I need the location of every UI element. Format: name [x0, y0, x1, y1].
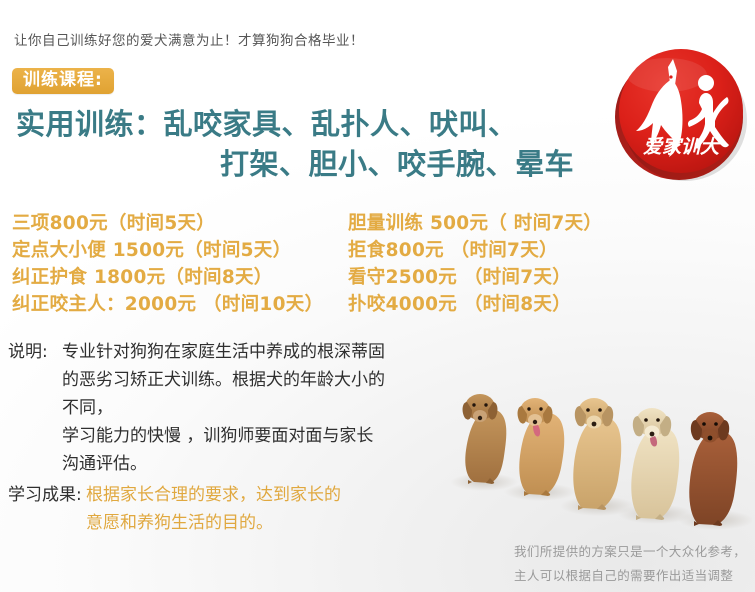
page-title-line-2: 打架、胆小、咬手腕、晕车 [16, 144, 576, 184]
description-line: 沟通评估。 [62, 450, 448, 478]
aijia-dog-training-logo: 爱家训犬 [611, 41, 751, 181]
price-list: 三项800元（时间5天） 胆量训练 500元（ 时间7天） 定点大小便 1500… [12, 210, 652, 318]
price-row: 定点大小便 1500元（时间5天） 拒食800元 （时间7天） [12, 237, 652, 264]
dog-2 [518, 398, 565, 496]
description-line: 学习能力的快慢 ，训狗师要面对面与家长 [62, 422, 448, 450]
outcome-line: 意愿和养狗生活的目的。 [86, 509, 448, 537]
description-line: 专业针对狗狗在家庭生活中养成的根深蒂固 [62, 338, 448, 366]
five-golden-retrievers-photo [440, 378, 752, 530]
description-block: 说明: 专业针对狗狗在家庭生活中养成的根深蒂固 的恶劣习矫正犬训练。根据犬的年龄… [8, 338, 448, 478]
price-item-right: 拒食800元 （时间7天） [348, 237, 558, 264]
price-item-right: 胆量训练 500元（ 时间7天） [348, 210, 602, 237]
tagline: 让你自己训练好您的爱犬满意为止！才算狗狗合格毕业！ [14, 29, 364, 49]
price-item-right: 扑咬4000元 （时间8天） [348, 291, 571, 318]
logo-text: 爱家训犬 [643, 136, 722, 158]
price-row: 纠正咬主人：2000元 （时间10天） 扑咬4000元 （时间8天） [12, 291, 652, 318]
disclaimer-line-1: 我们所提供的方案只是一个大众化参考， [514, 540, 746, 564]
page-title-line-1: 实用训练：乱咬家具、乱扑人、吠叫、 [16, 104, 576, 144]
description-line: 不同， [62, 394, 448, 422]
outcome-block: 学习成果: 根据家长合理的要求，达到家长的 意愿和养狗生活的目的。 [8, 481, 448, 537]
price-item-left: 纠正咬主人：2000元 （时间10天） [12, 291, 348, 318]
description-label: 说明: [8, 338, 62, 478]
outcome-label: 学习成果: [8, 481, 86, 537]
price-item-right: 看守2500元 （时间7天） [348, 264, 571, 291]
price-row: 三项800元（时间5天） 胆量训练 500元（ 时间7天） [12, 210, 652, 237]
disclaimer-line-2: 主人可以根据自己的需要作出适当调整 [514, 564, 746, 588]
promo-poster: 让你自己训练好您的爱犬满意为止！才算狗狗合格毕业！ 训练课程: 实用训练：乱咬家… [0, 0, 755, 592]
description-line: 的恶劣习矫正犬训练。根据犬的年龄大小的 [62, 366, 448, 394]
price-row: 纠正护食 1800元（时间8天） 看守2500元 （时间7天） [12, 264, 652, 291]
dog-4 [631, 408, 679, 520]
price-item-left: 三项800元（时间5天） [12, 210, 348, 237]
dog-3 [573, 398, 621, 510]
dog-1 [463, 394, 507, 484]
outcome-line: 根据家长合理的要求，达到家长的 [86, 481, 448, 509]
description-body: 专业针对狗狗在家庭生活中养成的根深蒂固 的恶劣习矫正犬训练。根据犬的年龄大小的 … [62, 338, 448, 478]
page-title: 实用训练：乱咬家具、乱扑人、吠叫、 打架、胆小、咬手腕、晕车 [16, 104, 576, 184]
training-course-badge: 训练课程: [12, 68, 114, 94]
outcome-body: 根据家长合理的要求，达到家长的 意愿和养狗生活的目的。 [86, 481, 448, 537]
dog-5 [689, 412, 737, 526]
disclaimer: 我们所提供的方案只是一个大众化参考， 主人可以根据自己的需要作出适当调整 [514, 540, 746, 588]
price-item-left: 定点大小便 1500元（时间5天） [12, 237, 348, 264]
price-item-left: 纠正护食 1800元（时间8天） [12, 264, 348, 291]
